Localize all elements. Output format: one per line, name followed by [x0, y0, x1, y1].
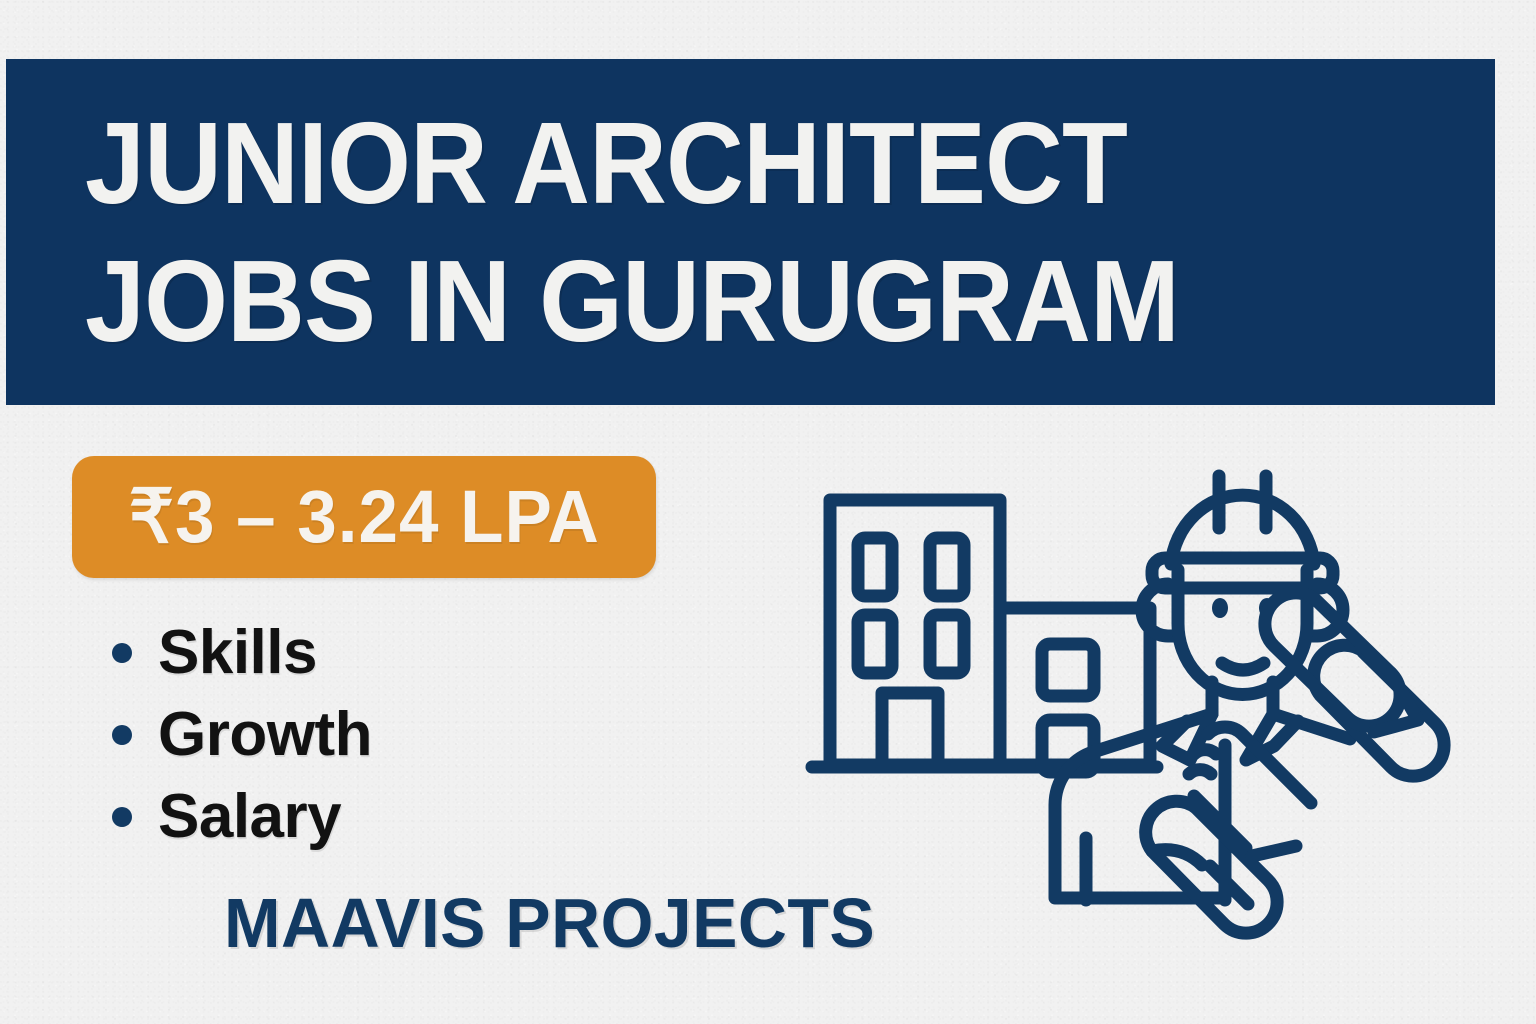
page-title-line-2: JOBS IN GURUGRAM — [85, 232, 1396, 370]
page-title-line-1: JUNIOR ARCHITECT — [85, 94, 1396, 232]
bullet-dot-icon — [112, 643, 132, 663]
architect-with-buildings-illustration — [790, 430, 1470, 970]
hand-icon — [1189, 727, 1311, 856]
salary-badge-label: ₹3 – 3.24 LPA — [128, 480, 599, 554]
feature-label-skills: Skills — [158, 622, 317, 684]
list-item: Skills — [112, 612, 372, 694]
brand-name: MAAVIS PROJECTS — [224, 888, 875, 958]
office-buildings-icon — [812, 500, 1157, 772]
list-item: Growth — [112, 694, 372, 776]
title-banner: JUNIOR ARCHITECT JOBS IN GURUGRAM — [6, 59, 1495, 405]
bullet-dot-icon — [112, 807, 132, 827]
feature-label-salary: Salary — [158, 786, 341, 848]
bullet-dot-icon — [112, 725, 132, 745]
feature-label-growth: Growth — [158, 704, 372, 766]
job-post-poster: JUNIOR ARCHITECT JOBS IN GURUGRAM ₹3 – 3… — [0, 0, 1536, 1024]
list-item: Salary — [112, 776, 372, 858]
salary-badge: ₹3 – 3.24 LPA — [72, 456, 656, 578]
feature-list: Skills Growth Salary — [112, 612, 372, 858]
